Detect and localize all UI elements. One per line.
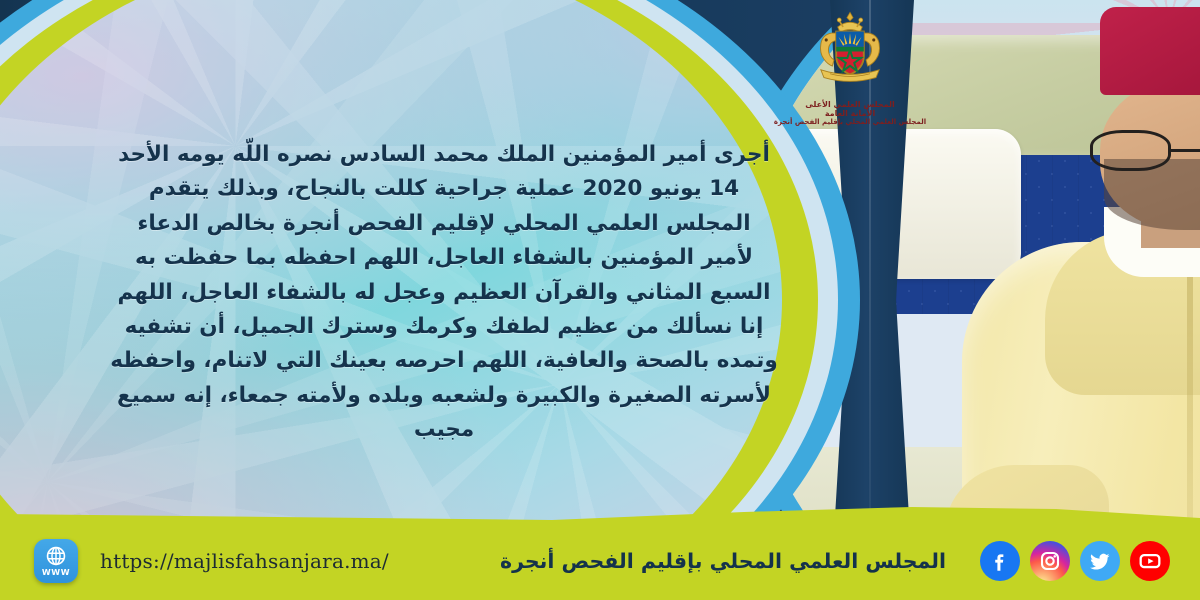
website-globe-icon[interactable]: WWW: [34, 539, 78, 583]
footer-content: WWW https://majlisfahsanjara.ma/ المجلس …: [0, 522, 1200, 600]
instagram-glyph: [1038, 549, 1062, 573]
facebook-glyph: [987, 548, 1013, 574]
facebook-icon[interactable]: [980, 541, 1020, 581]
social-links: [980, 541, 1170, 581]
panel-separator-highlight: [869, 0, 871, 520]
twitter-icon[interactable]: [1080, 541, 1120, 581]
globe-icon: [45, 545, 67, 567]
fez-hat: [1100, 7, 1200, 95]
announcement-card: المجلس العلمي الأعلى الأمانة العامة المج…: [0, 0, 1200, 600]
organization-name: المجلس العلمي المحلي بإقليم الفحص أنجرة: [500, 549, 946, 573]
youtube-glyph: [1137, 548, 1163, 574]
eyeglasses-icon: [1090, 130, 1200, 171]
announcement-text: أجرى أمير المؤمنين الملك محمد السادس نصر…: [108, 138, 780, 448]
www-label: WWW: [42, 568, 70, 577]
instagram-icon[interactable]: [1030, 541, 1070, 581]
website-url[interactable]: https://majlisfahsanjara.ma/: [100, 549, 389, 573]
youtube-icon[interactable]: [1130, 541, 1170, 581]
twitter-glyph: [1088, 549, 1112, 573]
